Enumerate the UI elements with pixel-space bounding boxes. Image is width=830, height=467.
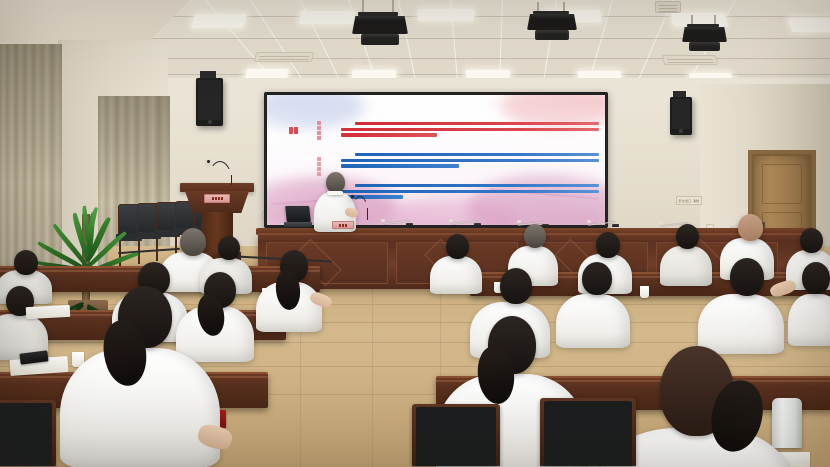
podium-microphone[interactable] — [208, 161, 234, 185]
presenter-head — [326, 172, 345, 193]
air-vent — [655, 1, 681, 13]
audience-chair[interactable] — [0, 400, 56, 466]
ceiling-light-panel — [788, 18, 830, 32]
audience-chair[interactable] — [412, 404, 500, 466]
paper-cup — [640, 286, 649, 298]
air-vent — [254, 52, 314, 62]
presenter-laptop[interactable] — [284, 206, 312, 228]
attendee — [60, 286, 220, 466]
podium-plaque — [204, 194, 230, 203]
slide-paragraph — [341, 184, 599, 199]
ceiling-light-panel — [191, 14, 247, 28]
ceiling-light-panel — [418, 9, 475, 21]
attendee — [788, 262, 830, 342]
air-vent — [662, 55, 718, 65]
attendee — [0, 286, 48, 356]
presenter-collar — [327, 191, 343, 195]
slide-paragraph — [341, 122, 599, 137]
presenter-nameplate — [332, 221, 354, 229]
party-emblem-icon — [289, 127, 298, 134]
attendee — [698, 258, 784, 350]
attendee — [256, 250, 322, 328]
audience-chair[interactable] — [540, 398, 636, 466]
slide-vertical-title — [317, 121, 321, 140]
conference-room-photo: 安全出口 消防 — [0, 0, 830, 467]
presenter-microphone[interactable] — [352, 196, 370, 220]
wall-speaker — [670, 97, 692, 135]
ceiling-light-panel — [299, 11, 355, 24]
wall-speaker — [196, 78, 223, 126]
exit-sign: 安全出口 消防 — [676, 196, 702, 205]
slide-paragraph — [341, 153, 599, 168]
